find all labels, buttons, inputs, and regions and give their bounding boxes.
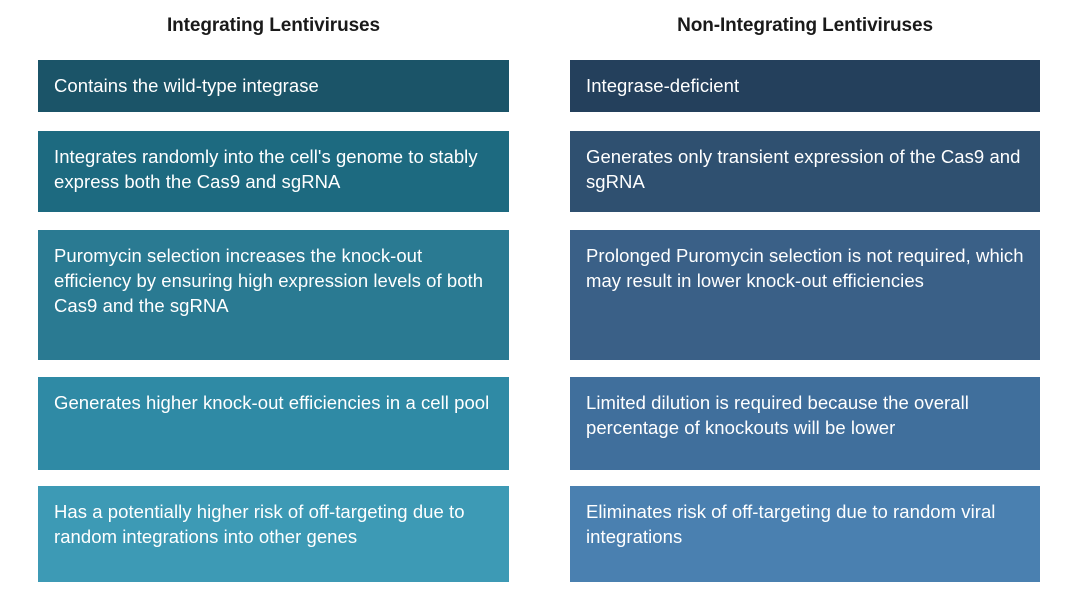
- feature-box: Integrates randomly into the cell's geno…: [38, 131, 509, 212]
- feature-text: Integrates randomly into the cell's geno…: [54, 144, 493, 194]
- feature-text: Eliminates risk of off-targeting due to …: [586, 499, 1024, 549]
- feature-box: Eliminates risk of off-targeting due to …: [570, 486, 1040, 582]
- feature-text: Puromycin selection increases the knock-…: [54, 243, 493, 318]
- feature-box: Contains the wild-type integrase: [38, 60, 509, 112]
- column-header-non-integrating: Non-Integrating Lentiviruses: [570, 14, 1040, 38]
- feature-box: Prolonged Puromycin selection is not req…: [570, 230, 1040, 360]
- feature-box: Has a potentially higher risk of off-tar…: [38, 486, 509, 582]
- feature-box: Limited dilution is required because the…: [570, 377, 1040, 470]
- feature-box: Integrase-deficient: [570, 60, 1040, 112]
- feature-text: Has a potentially higher risk of off-tar…: [54, 499, 493, 549]
- feature-text: Generates higher knock-out efficiencies …: [54, 390, 493, 415]
- feature-box: Puromycin selection increases the knock-…: [38, 230, 509, 360]
- feature-text: Limited dilution is required because the…: [586, 390, 1024, 440]
- feature-text: Generates only transient expression of t…: [586, 144, 1024, 194]
- comparison-diagram: Integrating Lentiviruses Non-Integrating…: [0, 0, 1080, 606]
- feature-box: Generates only transient expression of t…: [570, 131, 1040, 212]
- feature-box: Generates higher knock-out efficiencies …: [38, 377, 509, 470]
- feature-text: Integrase-deficient: [586, 73, 1024, 98]
- column-header-integrating: Integrating Lentiviruses: [38, 14, 509, 38]
- feature-text: Contains the wild-type integrase: [54, 73, 493, 98]
- feature-text: Prolonged Puromycin selection is not req…: [586, 243, 1024, 293]
